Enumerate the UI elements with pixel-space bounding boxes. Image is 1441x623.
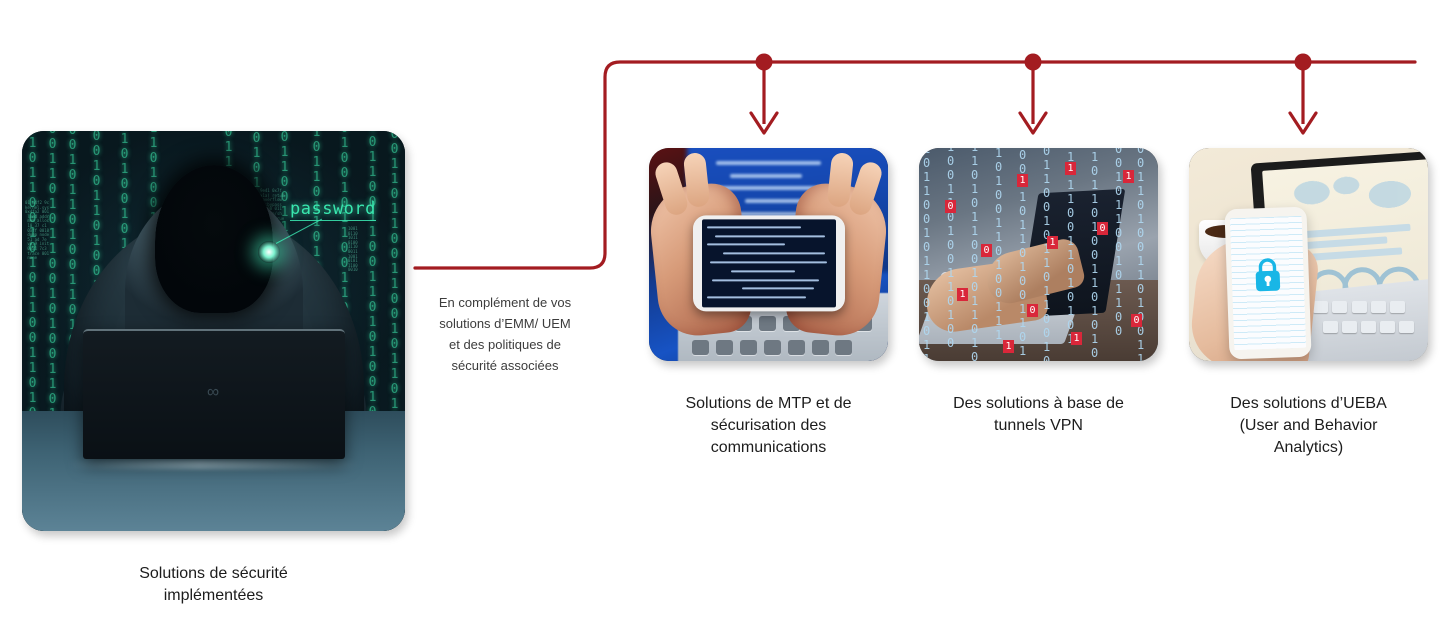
smartphone (693, 215, 845, 311)
source-caption-line-1: Solutions de sécurité (22, 563, 405, 585)
target-caption-mtp: Solutions de MTP et de sécurisation des … (645, 393, 892, 459)
vpn-photo: 1 0 1 1 0 0 1 0 1 1 0 0 1 0 1 1 0 1 0 0 … (919, 148, 1158, 361)
target-image-card-ueba[interactable] (1189, 148, 1428, 361)
hacker-face-shadow (155, 165, 273, 313)
source-caption: Solutions de sécurité implémentées (22, 563, 405, 607)
target-caption-vpn: Des solutions à base de tunnels VPN (915, 393, 1162, 437)
smartphone-screen (1230, 215, 1307, 349)
smartphone (1225, 206, 1312, 359)
world-map-graphic (1287, 165, 1424, 223)
mtp-caption-line-2: sécurisation des (645, 415, 892, 437)
connector-note-line-4: sécurité associées (418, 355, 592, 376)
connector-note-line-1: En complément de vos (418, 292, 592, 313)
password-label: password (290, 199, 376, 221)
ueba-caption-line-1: Des solutions d’UEBA (1185, 393, 1432, 415)
hacker-photo: 0 1 0 1 1 0 0 1 0 1 0 1 1 0 0 1 1 0 1 0 … (22, 131, 405, 531)
ueba-photo (1189, 148, 1428, 361)
laptop-logo: ∞ (207, 382, 220, 402)
connector-note-line-3: et des politiques de (418, 334, 592, 355)
target-caption-ueba: Des solutions d’UEBA (User and Behavior … (1185, 393, 1432, 459)
ueba-caption-line-3: Analytics) (1185, 437, 1432, 459)
mtp-caption-line-3: communications (645, 437, 892, 459)
target-image-card-vpn[interactable]: 1 0 1 1 0 0 1 0 1 1 0 0 1 0 1 1 0 1 0 0 … (919, 148, 1158, 361)
vpn-caption-line-2: tunnels VPN (915, 415, 1162, 437)
ueba-caption-line-2: (User and Behavior (1185, 415, 1432, 437)
vpn-caption-line-1: Des solutions à base de (915, 393, 1162, 415)
connector-note-line-2: solutions d’EMM/ UEM (418, 313, 592, 334)
code-text-left: 01 a4f2 9c kernel.sys 0x4fa2 001 load ad… (25, 201, 49, 261)
mtp-photo (649, 148, 888, 361)
target-image-card-mtp[interactable] (649, 148, 888, 361)
source-image-card[interactable]: 0 1 0 1 1 0 0 1 0 1 0 1 1 0 0 1 1 0 1 0 … (22, 131, 405, 531)
connector-note: En complément de vos solutions d’EMM/ UE… (418, 292, 592, 376)
laptop: ∞ (83, 329, 345, 459)
padlock-icon (1250, 254, 1285, 295)
smartphone-screen (702, 219, 836, 307)
desk-reflection (68, 460, 359, 469)
mtp-caption-line-1: Solutions de MTP et de (645, 393, 892, 415)
diagram-canvas: 0 1 0 1 1 0 0 1 0 1 0 1 1 0 0 1 1 0 1 0 … (0, 0, 1441, 623)
code-text-far-right: 1001 0110 1011 0100 1110 0011 1001 0101 … (348, 227, 358, 273)
source-caption-line-2: implémentées (22, 585, 405, 607)
password-glow-dot (258, 241, 280, 263)
